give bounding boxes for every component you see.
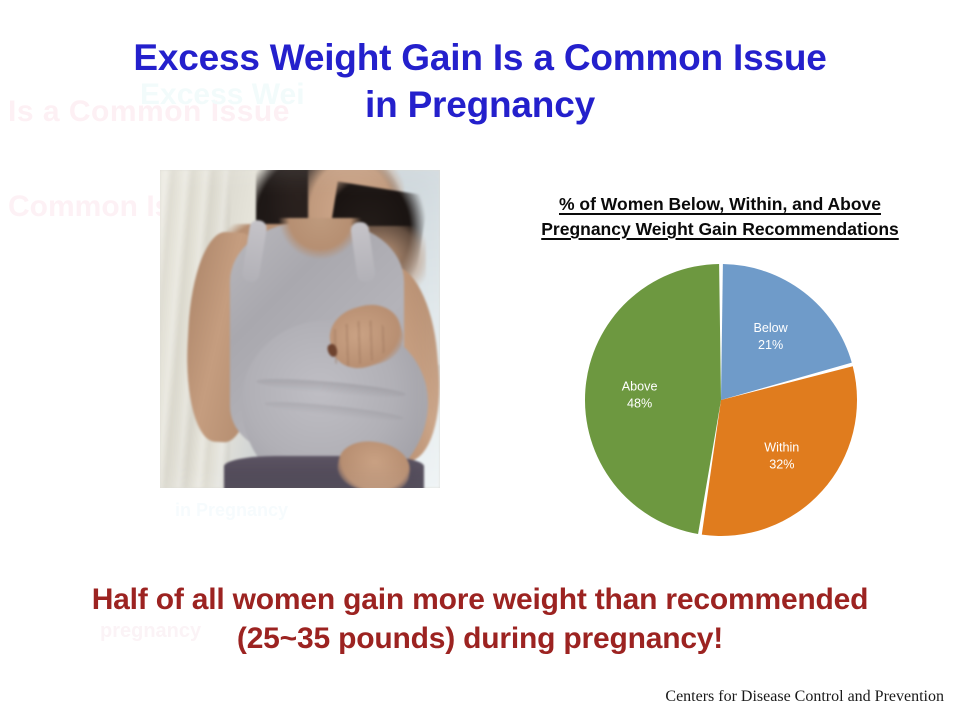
pie-label-value-within: 32% xyxy=(769,458,794,472)
pie-label-name-above: Above xyxy=(622,380,658,394)
slide-title: Excess Weight Gain Is a Common Issue in … xyxy=(0,34,960,128)
slide-title-line-1: Excess Weight Gain Is a Common Issue xyxy=(0,34,960,81)
pie-label-name-within: Within xyxy=(764,441,799,455)
pregnancy-photo xyxy=(160,170,440,488)
pie-chart-svg: Below21%Within32%Above48% xyxy=(583,262,859,538)
chart-title: % of Women Below, Within, and Above Preg… xyxy=(494,192,946,242)
key-message-line-2: (25~35 pounds) during pregnancy! xyxy=(0,619,960,658)
chart-title-line-2: Pregnancy Weight Gain Recommendations xyxy=(494,217,946,242)
key-message-line-1: Half of all women gain more weight than … xyxy=(0,580,960,619)
slide-title-line-2: in Pregnancy xyxy=(0,81,960,128)
key-message: Half of all women gain more weight than … xyxy=(0,580,960,658)
pie-slice-above[interactable] xyxy=(585,264,721,534)
pie-label-value-above: 48% xyxy=(627,397,652,411)
pie-label-value-below: 21% xyxy=(758,338,783,352)
pie-label-name-below: Below xyxy=(753,321,788,335)
slide-canvas: Is a Common Issue Excess Wei Common Issu… xyxy=(0,0,960,720)
ghost-artifact-text: in Pregnancy xyxy=(175,500,288,521)
source-attribution: Centers for Disease Control and Preventi… xyxy=(665,688,944,706)
photo-soft-light xyxy=(160,170,440,488)
chart-title-line-1: % of Women Below, Within, and Above xyxy=(494,192,946,217)
pie-chart: Below21%Within32%Above48% xyxy=(583,262,859,538)
pie-slices xyxy=(585,264,857,536)
